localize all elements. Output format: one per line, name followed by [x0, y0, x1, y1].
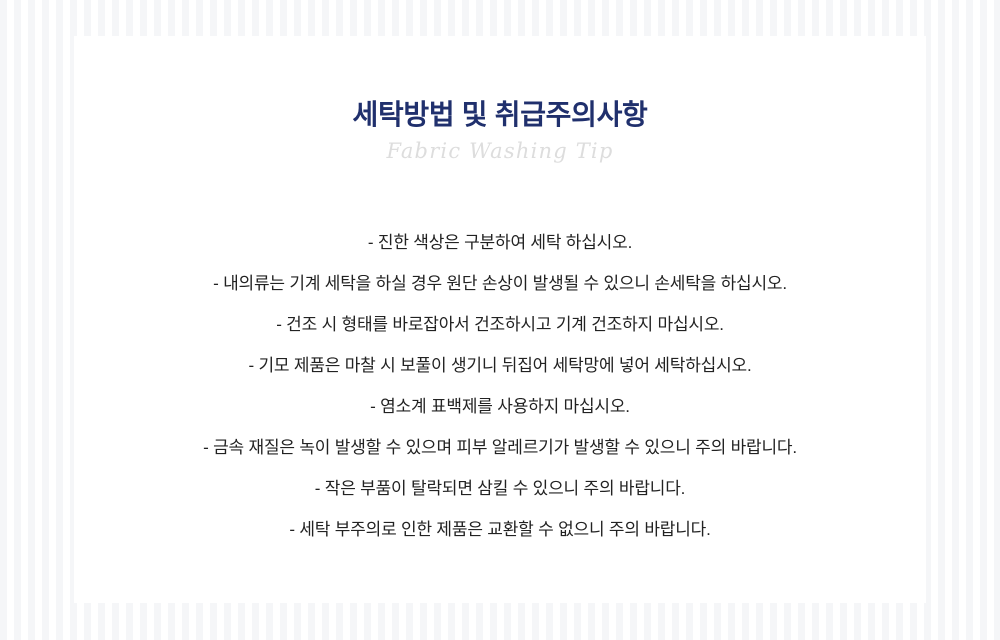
instruction-line: - 기모 제품은 마찰 시 보풀이 생기니 뒤집어 세탁망에 넣어 세탁하십시오… [74, 345, 926, 386]
content-card: 세탁방법 및 취급주의사항 Fabric Washing Tip - 진한 색상… [74, 36, 926, 603]
page-background: 세탁방법 및 취급주의사항 Fabric Washing Tip - 진한 색상… [0, 0, 1000, 640]
instruction-line: - 작은 부품이 탈락되면 삼킬 수 있으니 주의 바랍니다. [74, 468, 926, 509]
instruction-line: - 내의류는 기계 세탁을 하실 경우 원단 손상이 발생될 수 있으니 손세탁… [74, 263, 926, 304]
page-title: 세탁방법 및 취급주의사항 [74, 36, 926, 132]
page-subtitle: Fabric Washing Tip [74, 132, 926, 164]
instruction-line: - 금속 재질은 녹이 발생할 수 있으며 피부 알레르기가 발생할 수 있으니… [74, 427, 926, 468]
instruction-line: - 염소계 표백제를 사용하지 마십시오. [74, 386, 926, 427]
instruction-line: - 건조 시 형태를 바로잡아서 건조하시고 기계 건조하지 마십시오. [74, 304, 926, 345]
washing-instructions-list: - 진한 색상은 구분하여 세탁 하십시오. - 내의류는 기계 세탁을 하실 … [74, 222, 926, 550]
instruction-line: - 세탁 부주의로 인한 제품은 교환할 수 없으니 주의 바랍니다. [74, 509, 926, 550]
instruction-line: - 진한 색상은 구분하여 세탁 하십시오. [74, 222, 926, 263]
header-block: 세탁방법 및 취급주의사항 Fabric Washing Tip [74, 36, 926, 164]
